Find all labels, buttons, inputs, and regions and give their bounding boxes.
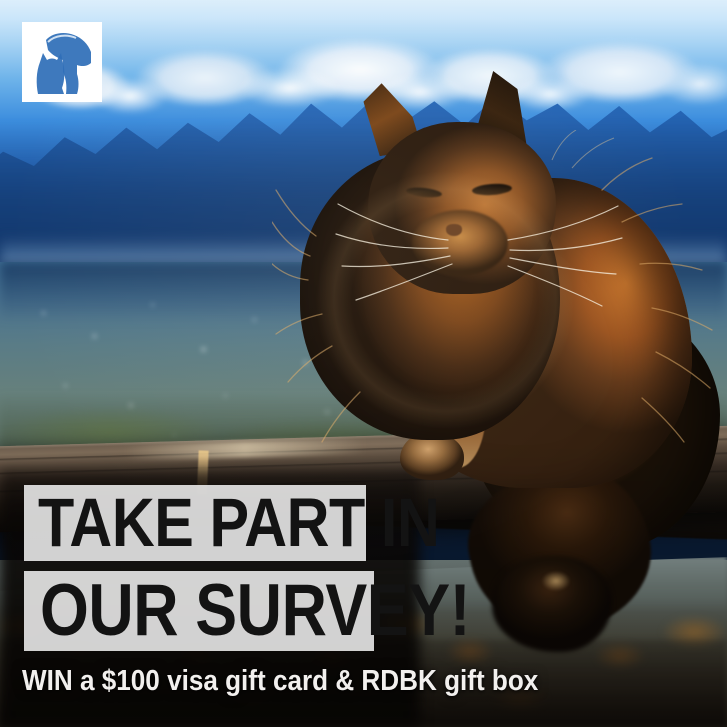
headline-band-2: OUR SURVEY! — [24, 571, 374, 651]
subheadline-text: WIN a $100 visa gift card & RDBK gift bo… — [22, 666, 490, 697]
headline-line-2: OUR SURVEY! — [40, 581, 470, 641]
cat-nose — [446, 224, 462, 236]
cat-muzzle — [412, 210, 508, 276]
promo-poster: TAKE PART IN OUR SURVEY! WIN a $100 visa… — [0, 0, 727, 727]
cat-tail-highlight — [536, 566, 576, 596]
cat-dog-silhouette-icon — [22, 22, 102, 102]
headline-line-1: TAKE PART IN — [38, 495, 439, 552]
brand-logo[interactable] — [22, 22, 102, 102]
headline-band-1: TAKE PART IN — [24, 485, 366, 561]
